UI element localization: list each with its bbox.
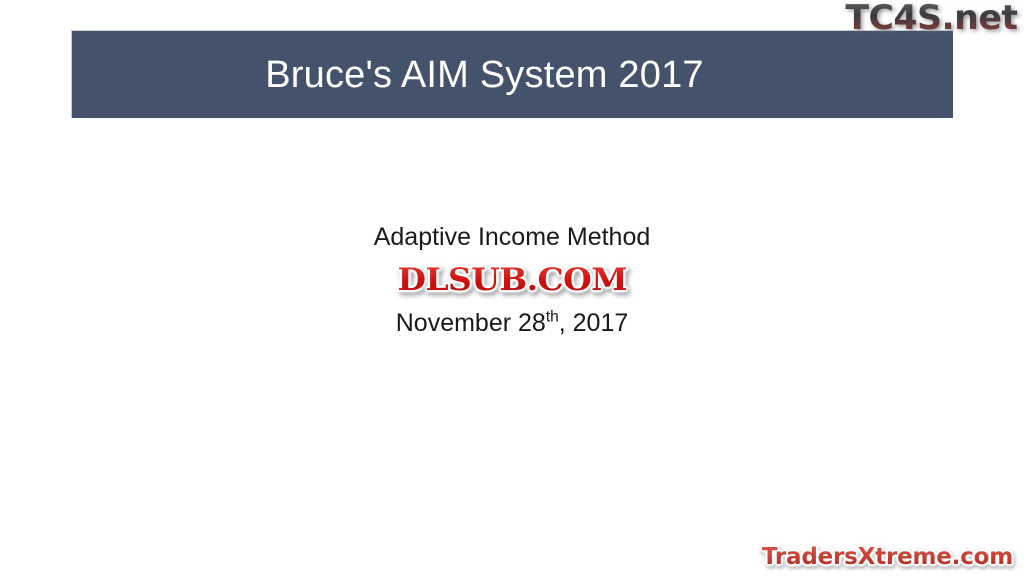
slide-title: Bruce's AIM System 2017 [265, 56, 703, 94]
slide-body: Adaptive Income Method DLSUB.COM Novembe… [0, 222, 1024, 339]
slide-date: November 28th, 2017 [0, 308, 1024, 339]
tradersxtreme-com-watermark: TradersXtreme.com [762, 545, 1013, 570]
slide-subtitle: Adaptive Income Method [0, 222, 1024, 253]
tc4s-net-watermark: TC4S.net [846, 1, 1018, 37]
date-ordinal-suffix: th [546, 309, 559, 326]
dlsub-com-logo: DLSUB.COM [390, 263, 634, 300]
title-banner: Bruce's AIM System 2017 [71, 30, 953, 118]
dlsub-logo-wrap: DLSUB.COM [0, 263, 1024, 300]
date-year: , 2017 [559, 309, 629, 337]
date-month-day: November 28 [396, 309, 546, 337]
presentation-slide: Bruce's AIM System 2017 Adaptive Income … [0, 0, 1024, 576]
